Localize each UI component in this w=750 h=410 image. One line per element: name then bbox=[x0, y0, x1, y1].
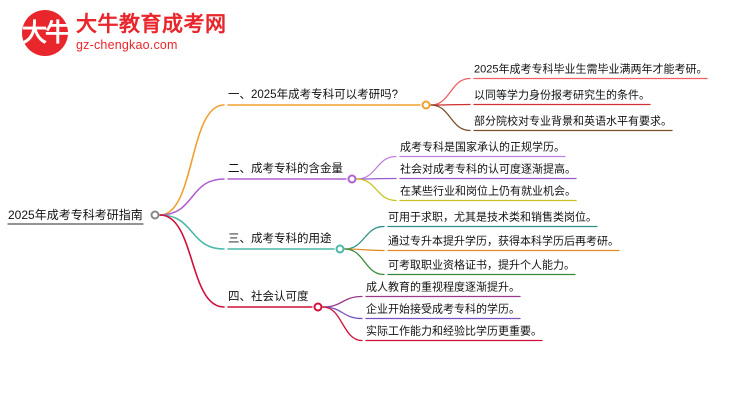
mindmap-branch-node-3[interactable] bbox=[336, 245, 345, 254]
mindmap-connectors bbox=[0, 0, 750, 410]
brand-subtitle: gz-chengkao.com bbox=[76, 37, 227, 53]
mindmap-leaf-label-1-3: 部分院校对专业背景和英语水平有要求。 bbox=[474, 115, 672, 128]
site-logo: 大牛 大牛教育成考网 gz-chengkao.com bbox=[22, 10, 227, 56]
brand-mark-icon: 大牛 bbox=[22, 10, 68, 56]
mindmap-branch-label-1: 一、2025年成考专科可以考研吗? bbox=[228, 89, 398, 103]
mindmap-leaf-label-2-1: 成考专科是国家承认的正规学历。 bbox=[400, 141, 565, 154]
brand-text: 大牛教育成考网 gz-chengkao.com bbox=[76, 13, 227, 53]
mindmap-branch-node-1[interactable] bbox=[422, 101, 431, 110]
mindmap-leaf-label-3-3: 可考取职业资格证书，提升个人能力。 bbox=[388, 259, 575, 272]
mindmap-leaf-label-3-1: 可用于求职，尤其是技术类和销售类岗位。 bbox=[388, 211, 597, 224]
mindmap-leaf-label-2-3: 在某些行业和岗位上仍有就业机会。 bbox=[400, 185, 576, 198]
mindmap-branch-label-4: 四、社会认可度 bbox=[228, 291, 309, 305]
mindmap-leaf-label-1-1: 2025年成考专科毕业生需毕业满两年才能考研。 bbox=[474, 63, 707, 76]
mindmap-root-label: 2025年成考专科考研指南 bbox=[8, 208, 143, 222]
mindmap-branch-node-4[interactable] bbox=[314, 303, 323, 312]
mindmap-leaf-label-4-3: 实际工作能力和经验比学历更重要。 bbox=[366, 325, 542, 338]
mindmap-branch-node-2[interactable] bbox=[348, 175, 357, 184]
mindmap-canvas: 大牛 大牛教育成考网 gz-chengkao.com 2025年成考专科考研指南… bbox=[0, 0, 750, 410]
brand-mark-glyph: 大牛 bbox=[22, 21, 68, 46]
mindmap-branch-label-3: 三、成考专科的用途 bbox=[228, 233, 332, 247]
mindmap-leaf-label-2-2: 社会对成考专科的认可度逐渐提高。 bbox=[400, 163, 576, 176]
mindmap-leaf-label-3-2: 通过专升本提升学历，获得本科学历后再考研。 bbox=[388, 235, 619, 248]
brand-title: 大牛教育成考网 bbox=[76, 13, 227, 37]
mindmap-leaf-label-4-2: 企业开始接受成考专科的学历。 bbox=[366, 303, 520, 316]
mindmap-root-node[interactable] bbox=[151, 211, 160, 220]
mindmap-leaf-label-1-2: 以同等学力身份报考研究生的条件。 bbox=[474, 89, 650, 102]
mindmap-branch-label-2: 二、成考专科的含金量 bbox=[228, 163, 343, 177]
mindmap-leaf-label-4-1: 成人教育的重视程度逐渐提升。 bbox=[366, 281, 520, 294]
